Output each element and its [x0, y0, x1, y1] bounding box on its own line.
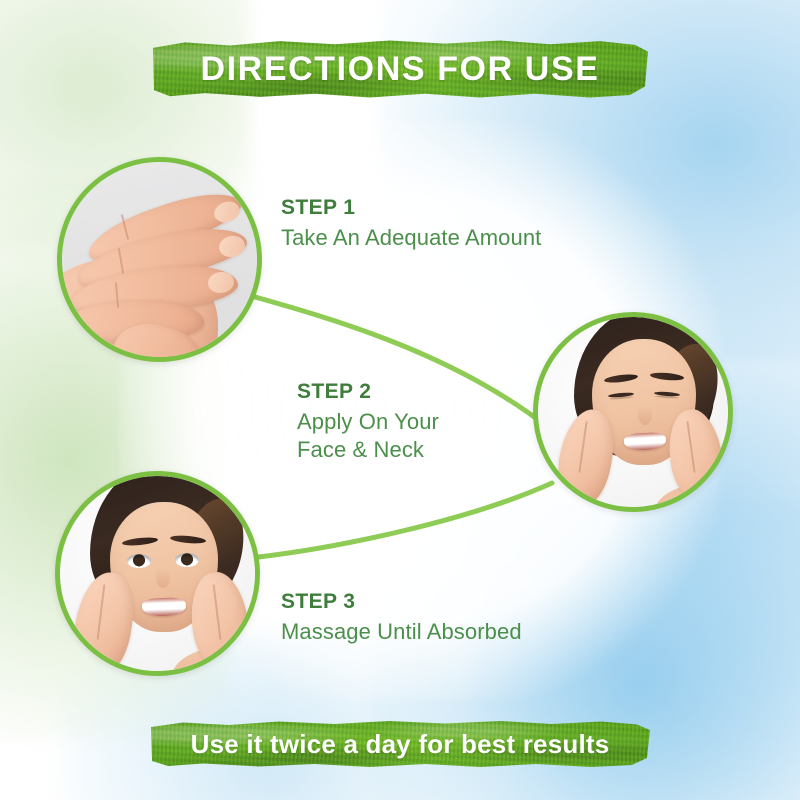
eye-right-open — [175, 553, 199, 567]
step-2-body-line-2: Face & Neck — [297, 436, 439, 464]
page-title: DIRECTIONS FOR USE — [200, 50, 599, 89]
nose — [156, 568, 170, 588]
hand-fingers-photo — [62, 162, 257, 357]
title-banner: DIRECTIONS FOR USE — [150, 38, 650, 100]
footer-banner: Use it twice a day for best results — [148, 719, 652, 769]
step-1-image-circle — [57, 157, 262, 362]
step-1-heading: STEP 1 — [281, 196, 541, 220]
woman-massaging-face-photo — [60, 476, 255, 671]
step-3-text-block: STEP 3 Massage Until Absorbed — [281, 590, 522, 646]
step-2-body-line-1: Apply On Your — [297, 408, 439, 436]
step-2-image-circle — [533, 312, 733, 512]
eye-left-open — [127, 554, 151, 568]
footer-tagline: Use it twice a day for best results — [191, 729, 610, 760]
connector-step2-to-step3 — [250, 483, 552, 558]
nose — [638, 405, 652, 425]
step-2-text-block: STEP 2 Apply On Your Face & Neck — [297, 380, 439, 464]
directions-for-use-poster: DIRECTIONS FOR USE STEP 1 Take An Adequa… — [0, 0, 800, 800]
step-3-body-line-1: Massage Until Absorbed — [281, 618, 522, 646]
step-1-text-block: STEP 1 Take An Adequate Amount — [281, 196, 541, 252]
step-2-heading: STEP 2 — [297, 380, 439, 404]
step-3-heading: STEP 3 — [281, 590, 522, 614]
step-1-body-line-1: Take An Adequate Amount — [281, 224, 541, 252]
woman-applying-to-face-photo — [538, 317, 728, 507]
step-3-image-circle — [55, 471, 260, 676]
